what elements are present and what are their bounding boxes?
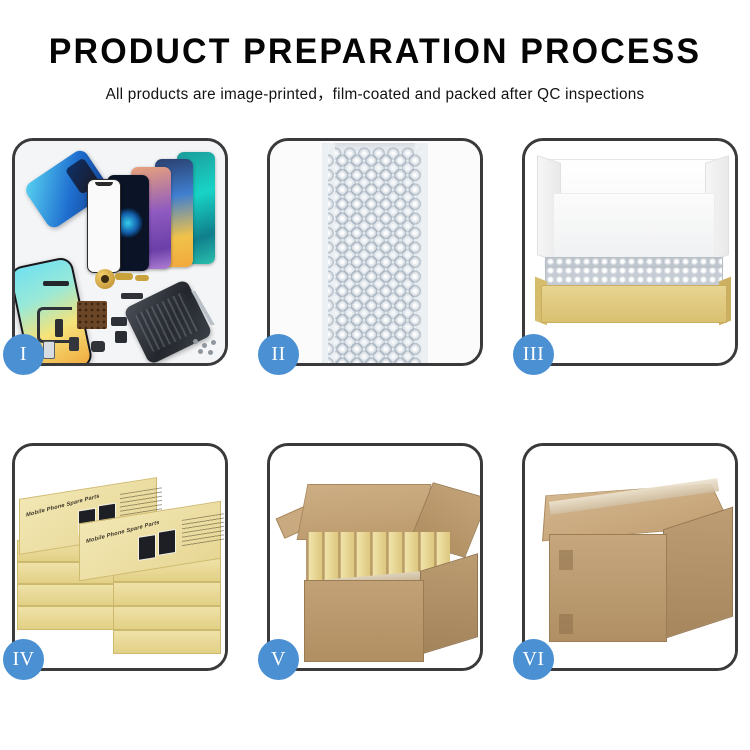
step-badge-6: VI <box>513 639 554 680</box>
small-part-icon <box>55 319 63 337</box>
step-panel-1: I <box>12 138 228 366</box>
step-image-5 <box>270 446 480 668</box>
sim-tray-part-icon <box>43 341 55 359</box>
step-badge-3: III <box>513 334 554 375</box>
carton-seam-mark-icon <box>559 550 573 570</box>
carton-seam-mark-icon <box>559 614 573 634</box>
retail-box-screen-graphic <box>158 529 176 556</box>
vibrator-part-icon <box>91 341 105 352</box>
carton-front-panel-icon <box>304 580 424 662</box>
retail-box-slab <box>113 630 221 654</box>
retail-box-screen-graphic <box>138 534 156 561</box>
gold-contact-part-icon <box>115 273 133 280</box>
step-badge-4: IV <box>3 639 44 680</box>
kraft-tray-front-icon <box>541 285 727 323</box>
step-badge-1: I <box>3 334 44 375</box>
module-part-icon <box>111 317 127 326</box>
bubble-wrap-edge <box>415 143 428 363</box>
camera-part-icon <box>115 331 127 343</box>
step-image-4: Mobile Phone Spare Parts Mobile Phone Sp… <box>15 446 225 668</box>
bubble-wrap-edge <box>322 143 335 363</box>
step-panel-2: II <box>267 138 483 366</box>
step-image-6 <box>525 446 735 668</box>
retail-box-spec-lines <box>182 513 224 548</box>
step-badge-5: V <box>258 639 299 680</box>
step-image-1 <box>15 141 225 363</box>
gold-clip-part-icon <box>135 275 149 281</box>
foam-insert-icon <box>553 193 715 261</box>
screws-icon <box>193 339 219 355</box>
step-panel-4: Mobile Phone Spare Parts Mobile Phone Sp… <box>12 443 228 671</box>
page-subtitle: All products are image-printed，film-coat… <box>0 82 750 104</box>
carton-side-panel-icon <box>420 553 478 655</box>
step-panel-6: VI <box>522 443 738 671</box>
page-header: PRODUCT PREPARATION PROCESS All products… <box>0 0 750 104</box>
retail-box-slab <box>113 606 221 630</box>
step-panel-3: III <box>522 138 738 366</box>
retail-box-slab <box>113 582 221 606</box>
sealed-carton-side-icon <box>663 507 733 640</box>
bubble-wrap-icon <box>322 143 428 363</box>
step-panel-5: V <box>267 443 483 671</box>
phone-screen-fan <box>99 149 225 267</box>
step-image-3 <box>525 141 735 363</box>
phone-screen-blank-icon <box>87 179 121 273</box>
connector-part-icon <box>121 293 143 299</box>
earpiece-part-icon <box>43 281 69 286</box>
speaker-part-icon <box>95 269 115 289</box>
step-badge-2: II <box>258 334 299 375</box>
process-steps-grid: I II III <box>12 138 738 671</box>
chip-board-part-icon <box>77 301 107 329</box>
step-image-2 <box>270 141 480 363</box>
tweezers-icon <box>183 291 223 325</box>
retail-box-stack: Mobile Phone Spare Parts Mobile Phone Sp… <box>17 472 223 658</box>
page-title: PRODUCT PREPARATION PROCESS <box>11 34 739 71</box>
button-part-icon <box>69 337 79 351</box>
